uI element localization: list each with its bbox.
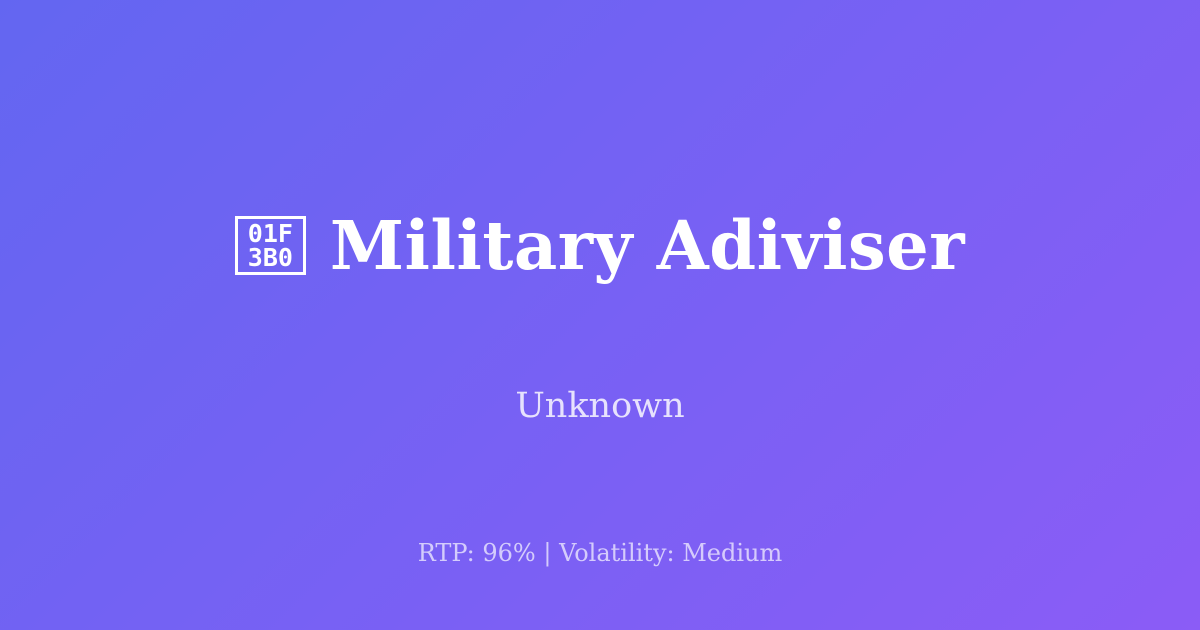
slot-machine-icon-hex-bottom: 3B0 bbox=[248, 246, 293, 270]
title-row: 01F 3B0 Military Adiviser bbox=[0, 165, 1200, 327]
subtitle: Unknown bbox=[515, 385, 684, 427]
og-share-card: 01F 3B0 Military Adiviser Unknown RTP: 9… bbox=[0, 0, 1200, 630]
hero-block: 01F 3B0 Military Adiviser Unknown bbox=[0, 165, 1200, 427]
page-title: Military Adiviser bbox=[330, 210, 965, 282]
stats-footer: RTP: 96% | Volatility: Medium bbox=[0, 539, 1200, 568]
slot-machine-icon: 01F 3B0 bbox=[235, 216, 306, 275]
